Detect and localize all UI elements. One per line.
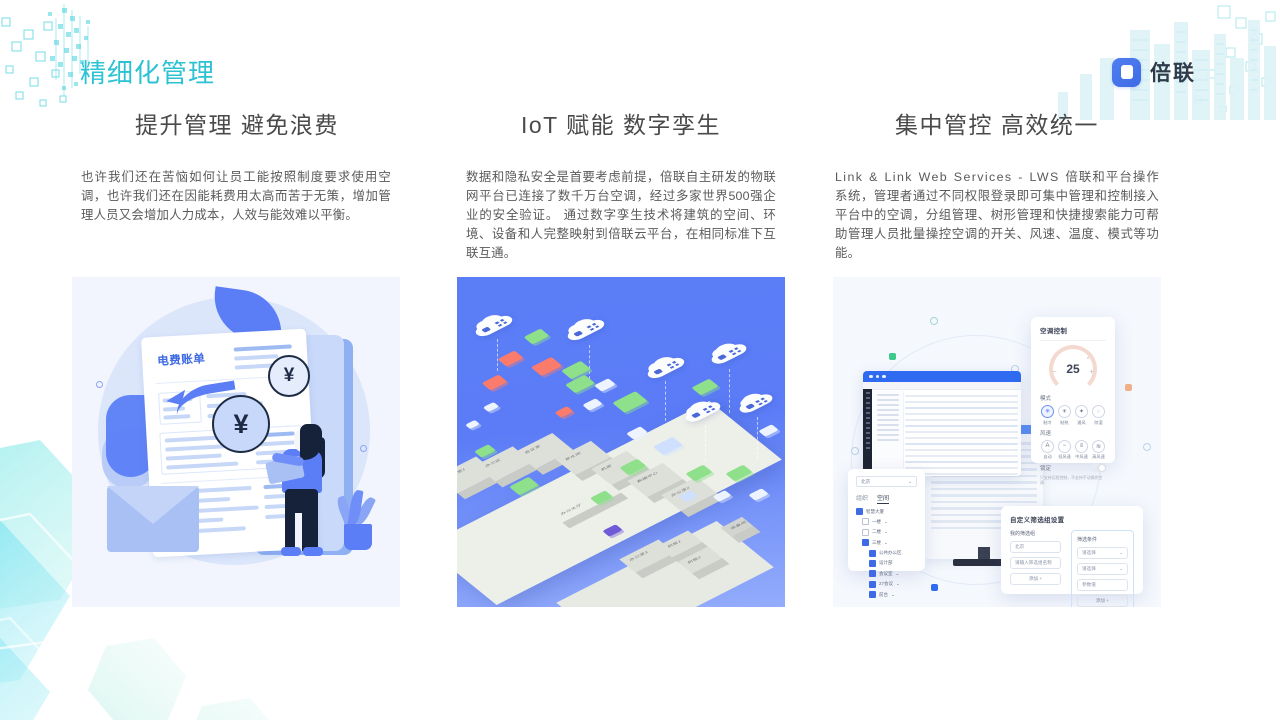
- cloud-icon: [472, 314, 515, 339]
- column-1-heading: 提升管理 避免浪费: [74, 112, 400, 140]
- one-bar-icon: −: [1058, 440, 1071, 453]
- lock-toggle[interactable]: [1091, 464, 1106, 472]
- region-select-value: 北京: [861, 479, 870, 485]
- ac-control-title: 空调控制: [1040, 325, 1106, 335]
- three-bar-icon: ≋: [1092, 440, 1105, 453]
- column-2-heading: IoT 赋能 数字孪生: [457, 112, 785, 140]
- tree-node[interactable]: 三楼⌄: [862, 539, 917, 546]
- tree-node[interactable]: 前台⌄: [869, 591, 917, 598]
- mode-label: 模式: [1040, 394, 1106, 402]
- electricity-bill-illustration: 电费账单: [72, 277, 400, 607]
- checkbox-icon[interactable]: [856, 508, 863, 515]
- add-filter-group-button[interactable]: 添加 +: [1010, 573, 1061, 585]
- region-select[interactable]: 北京 ⌄: [856, 476, 917, 487]
- column-2-body: 数据和隐私安全是首要考虑前提，倍联自主研发的物联网平台已连接了数千万台空调，经过…: [457, 168, 785, 264]
- checkbox-icon[interactable]: [862, 539, 869, 546]
- chevron-down-icon: ⌄: [891, 592, 895, 598]
- degree-unit: °: [1087, 357, 1089, 363]
- custom-filter-card[interactable]: 自定义筛选组设置 我的筛选组 北京 请输入筛选组名称 添加 + 筛选条件 请选择…: [1001, 506, 1143, 594]
- tree-node[interactable]: 二楼⌄: [862, 529, 917, 536]
- temperature-increase-button[interactable]: +: [1089, 367, 1094, 376]
- checkbox-icon[interactable]: [869, 570, 876, 577]
- filter-card-title: 自定义筛选组设置: [1010, 514, 1134, 524]
- cloud-icon: [736, 392, 775, 415]
- chevron-down-icon: ⌄: [908, 479, 912, 485]
- checkbox-icon[interactable]: [862, 518, 869, 525]
- snowflake-icon: ✳: [1041, 405, 1054, 418]
- envelope-icon: [107, 486, 199, 552]
- two-bar-icon: ≡: [1075, 440, 1088, 453]
- checkbox-icon[interactable]: [869, 560, 876, 567]
- fan-icon: ✦: [1075, 405, 1088, 418]
- checkbox-icon[interactable]: [869, 581, 876, 588]
- column-3-heading: 集中管控 高效统一: [833, 112, 1161, 140]
- tree-node[interactable]: 设计部: [869, 560, 917, 567]
- my-filter-groups-header: 我的筛选组: [1010, 530, 1061, 537]
- tab-organization[interactable]: 组织: [856, 493, 868, 504]
- mode-option-heat[interactable]: ☀制热: [1057, 405, 1072, 426]
- lock-label: 锁定: [1040, 464, 1051, 472]
- fan-speed-auto[interactable]: A自动: [1040, 440, 1055, 461]
- coin-small-icon: ¥: [268, 355, 310, 397]
- fan-speed-options: A自动 −低风速 ≡中风速 ≋高风速: [1040, 440, 1106, 461]
- rounded-square-logo-icon: [1112, 58, 1141, 87]
- cloud-icon: [644, 356, 687, 381]
- cloud-icon: [564, 318, 607, 343]
- page-title: 精细化管理: [80, 53, 215, 90]
- chevron-down-icon: ⌄: [884, 519, 888, 525]
- tree-node[interactable]: 智慧大厦: [856, 508, 917, 515]
- bill-document-title: 电费账单: [157, 350, 206, 369]
- chevron-down-icon: ⌄: [896, 581, 900, 587]
- lock-hint: 只支持远程控制，不支持手动操作空调: [1040, 475, 1106, 485]
- space-tree-card[interactable]: 北京 ⌄ 组织 空间 智慧大厦 一楼⌄ 二楼⌄ 三楼⌄ 公共办公区 设计部 会议…: [848, 469, 925, 571]
- brand-name: 倍联: [1150, 57, 1196, 87]
- isometric-iot-campus-illustration: 办公室1 办公区 会议室 茶水间 机房 数据中心 办公室2 办公室3 机柜1: [457, 277, 785, 607]
- temperature-dial[interactable]: 25 ° − +: [1049, 345, 1097, 393]
- condition-select-1[interactable]: 请选择⌄: [1077, 547, 1128, 559]
- sun-icon: ☀: [1058, 405, 1071, 418]
- brand-logo: 倍联: [1112, 57, 1196, 87]
- mode-options: ✳制冷 ☀制热 ✦通风 ◌除湿: [1040, 405, 1106, 426]
- ac-control-card[interactable]: 空调控制 25 ° − + 模式 ✳制冷 ☀制热 ✦通风 ◌除湿: [1031, 317, 1115, 463]
- coin-large-icon: ¥: [212, 395, 270, 453]
- tree-node[interactable]: 27会议⌄: [869, 581, 917, 588]
- filter-conditions-header: 筛选条件: [1077, 536, 1128, 543]
- tree-node[interactable]: 会议室⌄: [869, 570, 917, 577]
- fan-speed-medium[interactable]: ≡中风速: [1074, 440, 1089, 461]
- filter-group-name-input[interactable]: 请输入筛选组名称: [1010, 557, 1061, 569]
- checkbox-icon[interactable]: [869, 550, 876, 557]
- filter-group-item[interactable]: 北京: [1010, 541, 1061, 553]
- tree-node[interactable]: 一楼⌄: [862, 518, 917, 525]
- mode-option-cool[interactable]: ✳制冷: [1040, 405, 1055, 426]
- temperature-decrease-button[interactable]: −: [1052, 367, 1057, 376]
- condition-value-input[interactable]: 参数值: [1077, 579, 1128, 591]
- chevron-down-icon: ⌄: [1119, 566, 1123, 572]
- chevron-down-icon: ⌄: [896, 571, 900, 577]
- auto-a-icon: A: [1041, 440, 1054, 453]
- tab-space[interactable]: 空间: [877, 493, 889, 504]
- checkbox-icon[interactable]: [869, 591, 876, 598]
- browser-window-screenshot: [863, 371, 1021, 476]
- mode-option-fan[interactable]: ✦通风: [1074, 405, 1089, 426]
- cloud-icon: [708, 342, 750, 366]
- checkbox-icon[interactable]: [862, 529, 869, 536]
- slide-canvas: 精细化管理 倍联 提升管理 避免浪费 也许我们还在苦恼如何让员工能按照制度要求使…: [0, 0, 1280, 720]
- column-3-body: Link & Link Web Services - LWS 倍联和平台操作系统…: [833, 168, 1161, 264]
- column-1-body: 也许我们还在苦恼如何让员工能按照制度要求使用空调，也许我们还在因能耗费用太高而苦…: [72, 168, 400, 226]
- feature-columns: 提升管理 避免浪费 也许我们还在苦恼如何让员工能按照制度要求使用空调，也许我们还…: [0, 112, 1280, 612]
- feature-column-2: IoT 赋能 数字孪生 数据和隐私安全是首要考虑前提，倍联自主研发的物联网平台已…: [457, 112, 785, 264]
- lws-console-screenshots: 空调控制 25 ° − + 模式 ✳制冷 ☀制热 ✦通风 ◌除湿: [833, 277, 1161, 607]
- add-condition-button[interactable]: 添加 +: [1077, 595, 1128, 607]
- droplet-icon: ◌: [1092, 405, 1105, 418]
- chevron-down-icon: ⌄: [884, 540, 888, 546]
- condition-select-2[interactable]: 请选择⌄: [1077, 563, 1128, 575]
- chevron-down-icon: ⌄: [884, 529, 888, 535]
- fan-speed-high[interactable]: ≋高风速: [1091, 440, 1106, 461]
- tree-node[interactable]: 公共办公区: [869, 550, 917, 557]
- column-3-body-latin: Link & Link Web Services - LWS: [835, 170, 1065, 184]
- fan-speed-low[interactable]: −低风速: [1057, 440, 1072, 461]
- mode-option-dry[interactable]: ◌除湿: [1091, 405, 1106, 426]
- fan-label: 风速: [1040, 429, 1106, 437]
- feature-column-3: 集中管控 高效统一 Link & Link Web Services - LWS…: [833, 112, 1161, 264]
- chevron-down-icon: ⌄: [1119, 550, 1123, 556]
- feature-column-1: 提升管理 避免浪费 也许我们还在苦恼如何让员工能按照制度要求使用空调，也许我们还…: [72, 112, 400, 225]
